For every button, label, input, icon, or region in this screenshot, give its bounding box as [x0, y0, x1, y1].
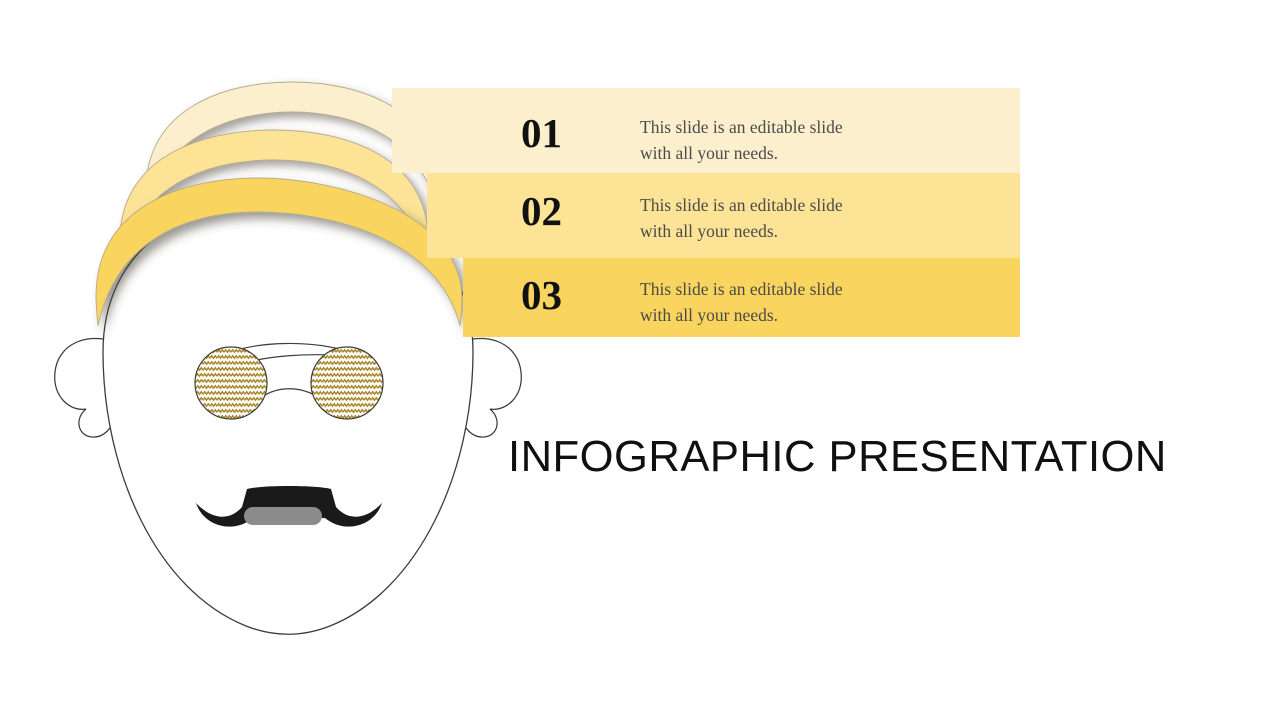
- bar-text-02: This slide is an editable slide with all…: [640, 193, 843, 244]
- mouth: [244, 507, 322, 525]
- left-lens: [195, 347, 267, 419]
- bar-number-02: 02: [521, 191, 562, 232]
- bar-number-01: 01: [521, 113, 562, 154]
- bar-number-03: 03: [521, 275, 562, 316]
- bar-text-03: This slide is an editable slide with all…: [640, 277, 843, 328]
- right-lens: [311, 347, 383, 419]
- face-shape: [103, 198, 473, 634]
- slide-canvas: 01 02 03 This slide is an editable slide…: [0, 0, 1280, 720]
- page-title: INFOGRAPHIC PRESENTATION: [508, 432, 1167, 482]
- bar-text-01: This slide is an editable slide with all…: [640, 115, 843, 166]
